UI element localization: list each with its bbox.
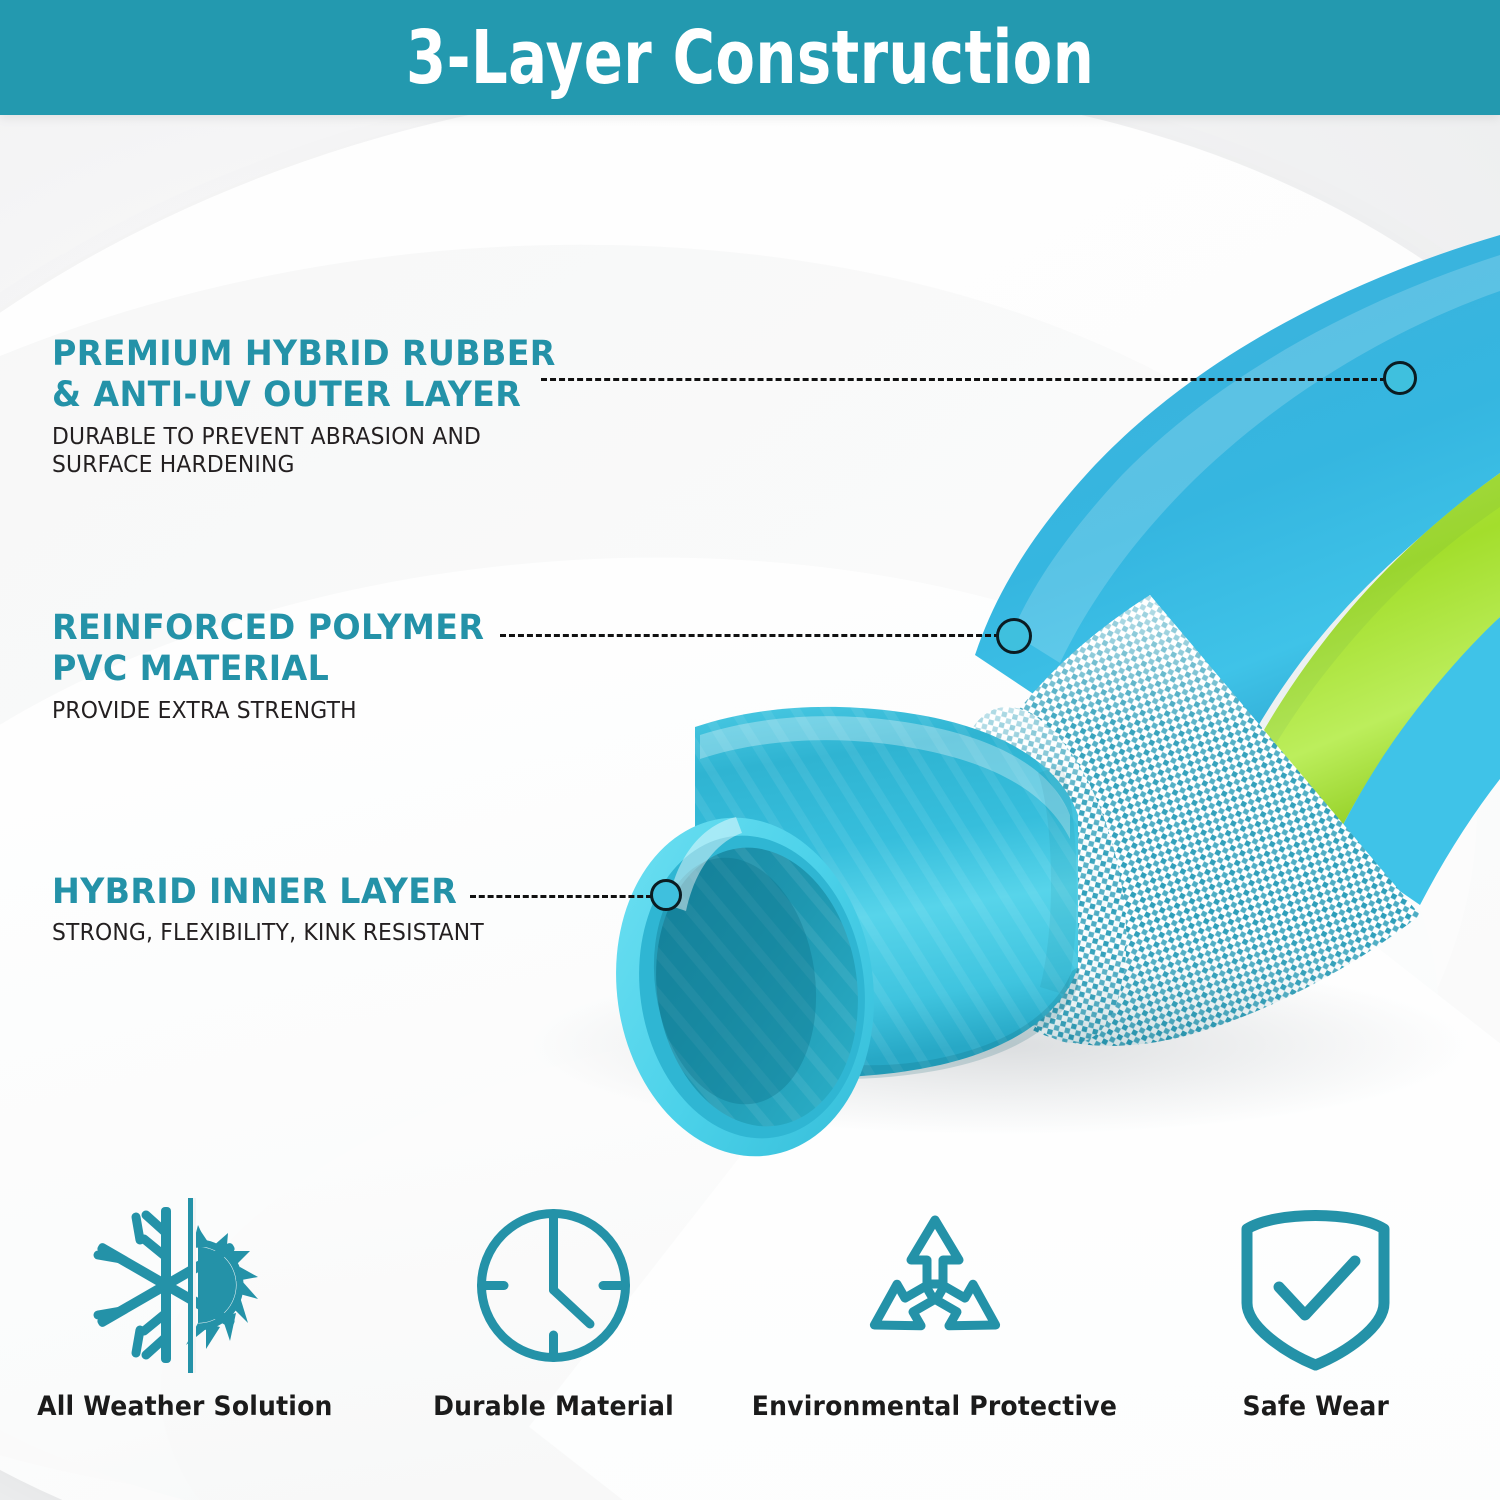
outer-layer-marker-dot[interactable] [1383,361,1417,395]
clock-icon [466,1195,641,1375]
feature-all-weather-label: All Weather Solution [37,1391,332,1422]
callout-inner-layer-title: HYBRID INNER LAYER [52,872,484,913]
reinforcement-marker-dot[interactable] [996,618,1032,654]
header-bar: 3-Layer Construction [0,0,1500,115]
inner-layer-marker-dot[interactable] [650,879,682,911]
leader-line-reinforcement [500,634,1000,637]
callout-inner-layer-subtitle: STRONG, FLEXIBILITY, KINK RESISTANT [52,919,484,947]
callout-outer-layer-title: PREMIUM HYBRID RUBBER & ANTI-UV OUTER LA… [52,334,556,417]
recycle-icon [840,1195,1030,1375]
callout-inner-layer: HYBRID INNER LAYER STRONG, FLEXIBILITY, … [52,872,507,947]
feature-row: All Weather Solution Durable Material [0,1195,1500,1495]
callout-outer-layer: PREMIUM HYBRID RUBBER & ANTI-UV OUTER LA… [52,334,582,479]
callout-outer-layer-subtitle: DURABLE TO PREVENT ABRASION AND SURFACE … [52,423,556,479]
callout-reinforcement-title: REINFORCED POLYMER PVC MATERIAL [52,608,484,691]
snowflake-sun-icon [70,1195,300,1375]
shield-check-icon [1233,1195,1398,1375]
feature-safe-wear: Safe Wear [1131,1195,1500,1495]
callout-reinforcement-subtitle: PROVIDE EXTRA STRENGTH [52,697,484,725]
leader-line-outer-layer [541,378,1386,381]
feature-environmental-label: Environmental Protective [752,1391,1117,1422]
page-title: 3-Layer Construction [406,21,1094,95]
feature-durable-material: Durable Material [369,1195,738,1495]
feature-safe-wear-label: Safe Wear [1242,1391,1389,1422]
feature-durable-material-label: Durable Material [433,1391,674,1422]
feature-all-weather: All Weather Solution [0,1195,369,1495]
callout-reinforcement: REINFORCED POLYMER PVC MATERIAL PROVIDE … [52,608,507,725]
feature-environmental: Environmental Protective [738,1195,1131,1495]
infographic-canvas: 3-Layer Construction [0,0,1500,1500]
